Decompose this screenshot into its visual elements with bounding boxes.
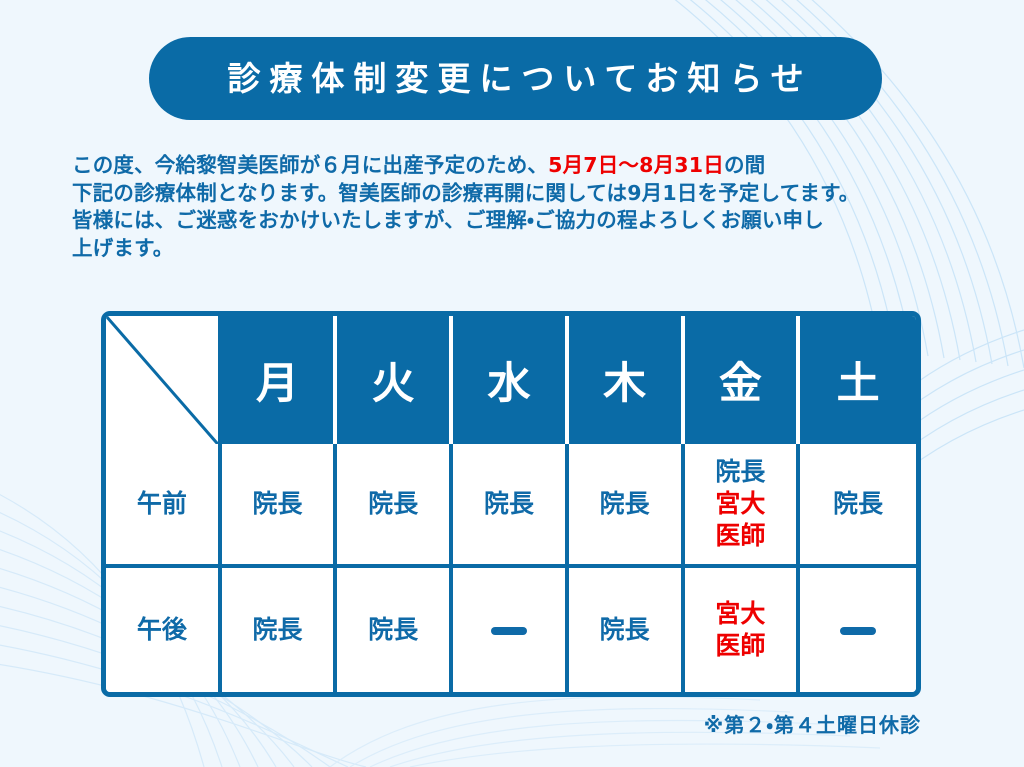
table-row-afternoon: 午後 院長 院長 院長 宮大医師 bbox=[106, 568, 916, 692]
schedule-body: 午前 院長 院長 院長 院長 院長宮大医師 院長 午後 院長 院長 院長 宮大医… bbox=[106, 444, 916, 692]
schedule-corner-cell bbox=[106, 316, 222, 444]
doctor-name-director: 院長 bbox=[337, 488, 449, 520]
schedule-cell-morning-sat: 院長 bbox=[800, 444, 916, 568]
notice-leave-period: 5月7日〜8月31日 bbox=[548, 153, 724, 177]
notice-line-1-part-2: の間 bbox=[724, 153, 765, 177]
schedule-cell-morning-mon: 院長 bbox=[222, 444, 338, 568]
schedule-row-label-morning: 午前 bbox=[106, 444, 222, 568]
schedule-day-header-tue: 火 bbox=[337, 316, 453, 444]
doctor-name-director: 院長 bbox=[222, 488, 334, 520]
schedule-cell-morning-thu: 院長 bbox=[569, 444, 685, 568]
notice-line-1: この度、今給黎智美医師が６月に出産予定のため、5月7日〜8月31日の間 bbox=[72, 152, 992, 180]
notice-line-1-part-1: この度、今給黎智美医師が６月に出産予定のため、 bbox=[72, 153, 548, 177]
schedule-day-header-wed: 水 bbox=[453, 316, 569, 444]
schedule-cell-afternoon-mon: 院長 bbox=[222, 568, 338, 692]
footer-note: ※第２・第４土曜日休診 bbox=[704, 709, 921, 738]
schedule-cell-morning-fri: 院長宮大医師 bbox=[685, 444, 801, 568]
page-title: 診療体制変更についてお知らせ bbox=[218, 62, 812, 95]
doctor-name-director: 院長 bbox=[337, 614, 449, 646]
schedule-cell-afternoon-tue: 院長 bbox=[337, 568, 453, 692]
doctor-name-director: 院長 bbox=[800, 488, 916, 520]
schedule-header-row: 月 火 水 木 金 土 bbox=[106, 316, 916, 444]
schedule-cell-afternoon-wed bbox=[453, 568, 569, 692]
doctor-name-director: 院長 bbox=[569, 488, 681, 520]
diagonal-slash-icon bbox=[106, 316, 218, 444]
schedule-day-header-thu: 木 bbox=[569, 316, 685, 444]
schedule-day-header-fri: 金 bbox=[685, 316, 801, 444]
doctor-name-director: 院長 bbox=[569, 614, 681, 646]
schedule-cell-morning-tue: 院長 bbox=[337, 444, 453, 568]
doctor-name-substitute: 宮大 bbox=[685, 488, 797, 520]
doctor-name-substitute: 宮大 bbox=[685, 598, 797, 630]
schedule-row-label-afternoon: 午後 bbox=[106, 568, 222, 692]
closed-dash-icon bbox=[840, 627, 876, 635]
schedule-day-header-sat: 土 bbox=[800, 316, 916, 444]
schedule-cell-afternoon-thu: 院長 bbox=[569, 568, 685, 692]
notice-line-4: 上げます。 bbox=[72, 235, 992, 263]
notice-line-2: 下記の診療体制となります。智美医師の診療再開に関しては9月1日を予定してます。 bbox=[72, 180, 992, 208]
schedule-day-header-mon: 月 bbox=[222, 316, 338, 444]
schedule-cell-morning-wed: 院長 bbox=[453, 444, 569, 568]
doctor-name-director: 院長 bbox=[685, 456, 797, 488]
doctor-name-director: 院長 bbox=[222, 614, 334, 646]
schedule-table: 月 火 水 木 金 土 午前 院長 院長 院長 院長 院長宮大医師 院長 bbox=[101, 311, 921, 697]
table-row-morning: 午前 院長 院長 院長 院長 院長宮大医師 院長 bbox=[106, 444, 916, 568]
schedule-cell-afternoon-fri: 宮大医師 bbox=[685, 568, 801, 692]
table-row-header: 月 火 水 木 金 土 bbox=[106, 316, 916, 444]
notice-paragraph: この度、今給黎智美医師が６月に出産予定のため、5月7日〜8月31日の間 下記の診… bbox=[72, 152, 992, 262]
schedule-table-wrapper: 月 火 水 木 金 土 午前 院長 院長 院長 院長 院長宮大医師 院長 bbox=[101, 311, 921, 694]
schedule-cell-afternoon-sat bbox=[800, 568, 916, 692]
doctor-name-substitute: 医師 bbox=[685, 520, 797, 552]
page-title-banner: 診療体制変更についてお知らせ bbox=[149, 37, 882, 120]
doctor-name-director: 院長 bbox=[453, 488, 565, 520]
notice-line-3: 皆様には、ご迷惑をおかけいたしますが、ご理解・ご協力の程よろしくお願い申し bbox=[72, 207, 992, 235]
closed-dash-icon bbox=[491, 627, 527, 635]
doctor-name-substitute: 医師 bbox=[685, 630, 797, 662]
